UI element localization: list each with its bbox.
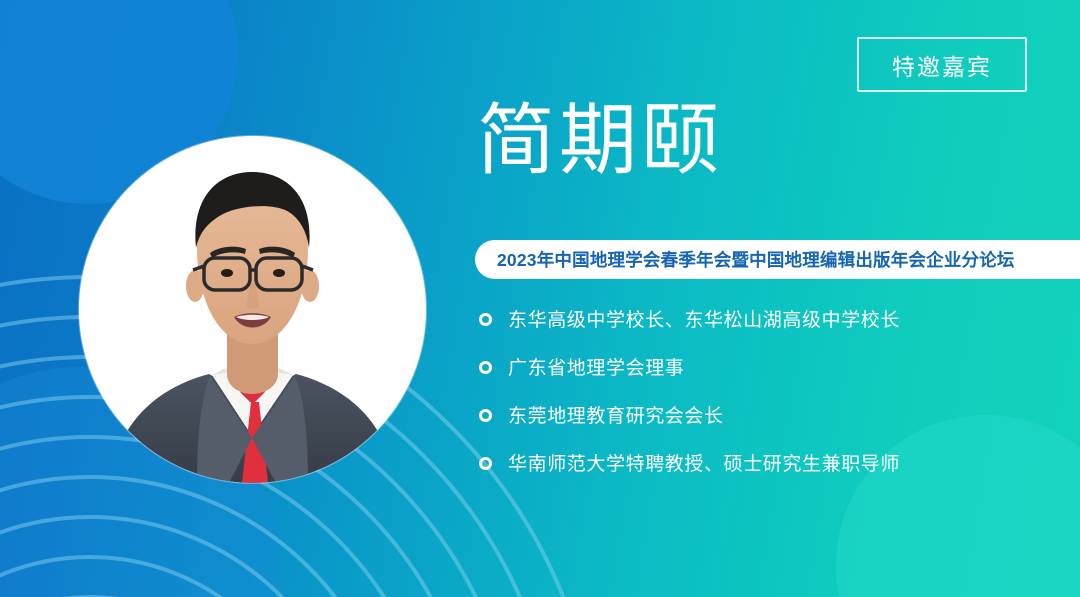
ring-bullet-icon: [479, 409, 492, 422]
event-title-label: 2023年中国地理学会春季年会暨中国地理编辑出版年会企业分论坛: [475, 247, 1015, 272]
ring-bullet-icon: [479, 361, 492, 374]
credential-label: 广东省地理学会理事: [508, 353, 684, 380]
credential-label: 华南师范大学特聘教授、硕士研究生兼职导师: [508, 449, 900, 476]
credential-label: 东华高级中学校长、东华松山湖高级中学校长: [508, 305, 900, 332]
ring-bullet-icon: [479, 313, 492, 326]
ring-bullet-icon: [479, 457, 492, 470]
event-title-pill: 2023年中国地理学会春季年会暨中国地理编辑出版年会企业分论坛: [475, 240, 1080, 279]
guest-badge-label: 特邀嘉宾: [892, 48, 992, 82]
speaker-name: 简期颐: [477, 101, 723, 179]
credential-label: 东莞地理教育研究会会长: [508, 401, 724, 428]
credentials-list: 东华高级中学校长、东华松山湖高级中学校长 广东省地理学会理事 东莞地理教育研究会…: [479, 305, 900, 476]
list-item: 东莞地理教育研究会会长: [479, 401, 900, 428]
guest-badge: 特邀嘉宾: [857, 37, 1027, 92]
list-item: 华南师范大学特聘教授、硕士研究生兼职导师: [479, 449, 900, 476]
list-item: 东华高级中学校长、东华松山湖高级中学校长: [479, 305, 900, 332]
speaker-card: 特邀嘉宾 简期颐 2023年中国地理学会春季年会暨中国地理编辑出版年会企业分论坛…: [0, 0, 1080, 597]
list-item: 广东省地理学会理事: [479, 353, 900, 380]
avatar: [79, 136, 426, 483]
